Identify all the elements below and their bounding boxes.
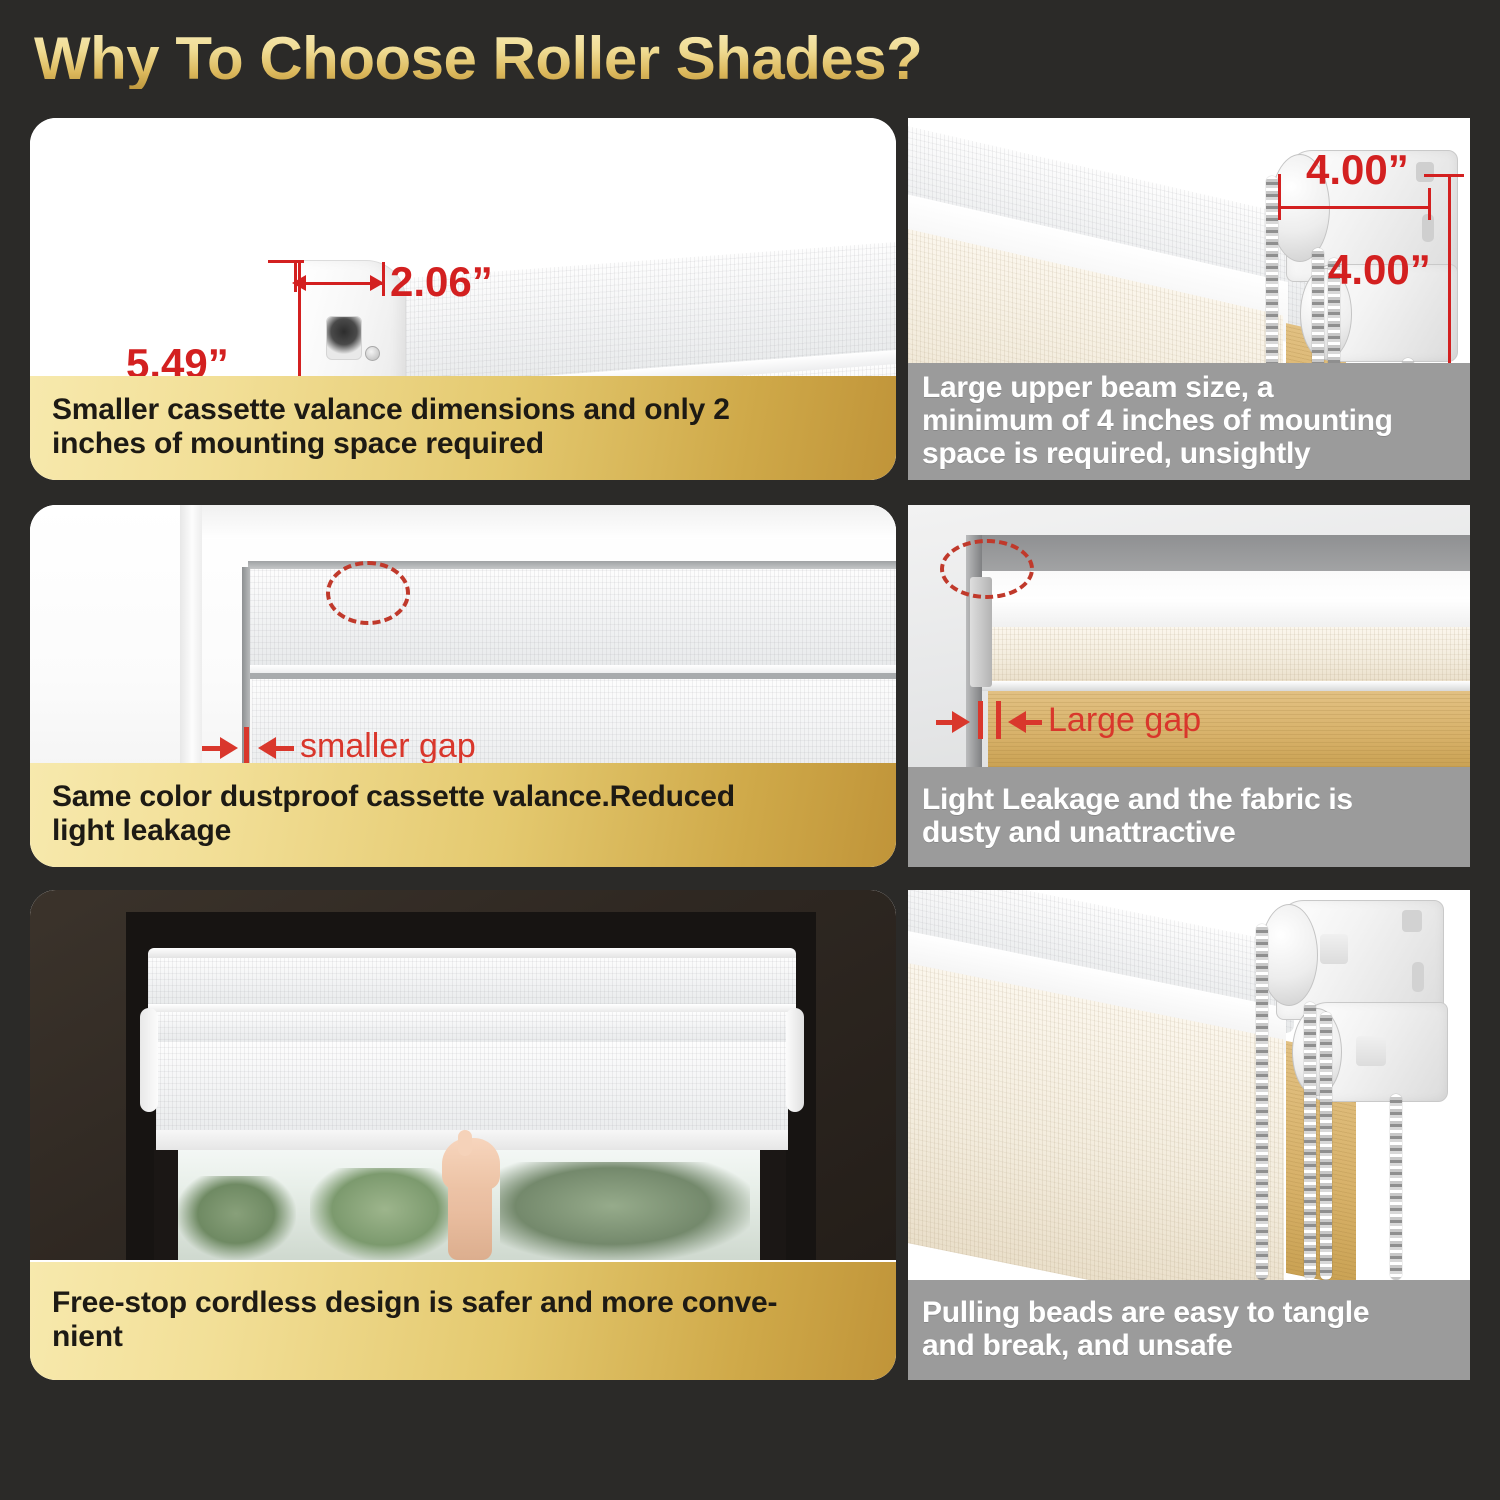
bracket-emboss-lower: [1356, 1036, 1386, 1066]
panel-large-upper-beam: 4.00” 4.00” Large upper beam size, a min…: [908, 118, 1470, 480]
caption-free-stop-cordless-design: Free-stop cordless design is safer and m…: [30, 1262, 896, 1380]
gap-label-smaller: smaller gap: [300, 727, 476, 766]
dashed-circle-annotation-icon: [940, 539, 1034, 599]
dim-tick-beam-left: [1278, 174, 1281, 220]
dim-tick-beam-right: [1428, 188, 1431, 220]
bracket-slot-2: [1412, 962, 1424, 992]
head-rail-white: [970, 571, 1470, 633]
valance-end-cap-slot: [326, 316, 362, 360]
arrow-left-icon: [258, 737, 276, 759]
caption-light-leakage-dusty-fabric: Light Leakage and the fabric is dusty an…: [908, 767, 1470, 867]
tree-foliage-right: [500, 1162, 750, 1260]
caption-text: Free-stop cordless design is safer and m…: [52, 1286, 777, 1353]
caption-pulling-beads-tangle: Pulling beads are easy to tangle and bre…: [908, 1280, 1470, 1380]
tree-foliage-left: [176, 1176, 296, 1260]
window-frame-vertical-molding: [180, 505, 202, 795]
bracket-slot-1: [1416, 162, 1434, 182]
bead-chain-4: [1390, 1094, 1402, 1280]
dim-label-beam-height: 4.00”: [1328, 246, 1431, 294]
arrow-right-icon: [220, 737, 238, 759]
dashed-circle-annotation-icon: [326, 561, 410, 625]
page-title: Why To Choose Roller Shades?: [34, 20, 1034, 98]
panel-free-stop-cordless-design: Free-stop cordless design is safer and m…: [30, 890, 896, 1380]
dim-label-beam-width: 4.00”: [1306, 146, 1409, 194]
bead-chain-2: [1304, 1002, 1316, 1280]
gap-label-large: Large gap: [1048, 701, 1201, 740]
roller-left-end: [140, 1008, 158, 1112]
hand-thumb: [458, 1130, 472, 1156]
dim-line-beam-height: [1448, 174, 1451, 374]
bead-chain-1: [1256, 924, 1268, 1280]
tree-foliage-center: [310, 1168, 460, 1260]
gap-arrow-stem-right: [276, 746, 294, 751]
dim-line-beam-width: [1278, 206, 1430, 209]
roller-right-end: [786, 1008, 804, 1112]
roller-shadow-line: [248, 673, 896, 679]
dim-arrow-width-right: [370, 275, 384, 291]
cassette-valance-body: [148, 958, 796, 1010]
dim-tick-beam-top: [1424, 174, 1464, 177]
bead-chain-3: [1320, 1012, 1332, 1280]
panel-dustproof-cassette-valance: smaller gap Same color dustproof cassett…: [30, 505, 896, 867]
arrow-right-icon: [952, 711, 970, 733]
bracket-emboss-upper: [1320, 934, 1348, 964]
window-mullion-right: [760, 1148, 786, 1260]
panel-smaller-cassette-valance: 2.06” 5.49” Smaller cassette valance dim…: [30, 118, 896, 480]
caption-text: Pulling beads are easy to tangle and bre…: [922, 1296, 1369, 1362]
caption-text: Light Leakage and the fabric is dusty an…: [922, 783, 1353, 849]
window-frame-head-molding: [202, 505, 896, 539]
roller-fabric-upper: [152, 1012, 792, 1046]
roller-end-disc-lower: [1292, 1008, 1342, 1096]
gap-arrow-stem-left: [202, 746, 222, 751]
bracket-slot-1: [1402, 910, 1422, 932]
caption-large-upper-beam: Large upper beam size, a minimum of 4 in…: [908, 363, 1470, 480]
roller-end-disc-upper: [1260, 904, 1318, 1006]
caption-dustproof-cassette-valance: Same color dustproof cassette valance.Re…: [30, 763, 896, 867]
caption-text: Same color dustproof cassette valance.Re…: [52, 780, 735, 847]
dim-label-width: 2.06”: [390, 258, 493, 306]
dim-tick-height-top: [268, 260, 304, 263]
panel-light-leakage-dusty-fabric: Large gap Light Leakage and the fabric i…: [908, 505, 1470, 867]
gap-measure-bar: [244, 727, 249, 767]
caption-text: Smaller cassette valance dimensions and …: [52, 393, 730, 460]
roller-bottom-lip: [980, 681, 1470, 691]
infographic-page: Why To Choose Roller Shades? 2.06”: [0, 0, 1500, 1500]
gap-arrow-stem-right: [1026, 720, 1042, 725]
panel-pulling-beads-tangle: Pulling beads are easy to tangle and bre…: [908, 890, 1470, 1380]
arrow-left-icon: [1008, 711, 1026, 733]
gap-measure-bar-1: [978, 701, 983, 739]
caption-smaller-cassette-valance: Smaller cassette valance dimensions and …: [30, 376, 896, 480]
window-mullion-left: [154, 1148, 178, 1260]
page-title-text: Why To Choose Roller Shades?: [34, 29, 922, 89]
fabric-band-cream: [978, 627, 1470, 685]
gap-measure-bar-2: [996, 701, 1001, 739]
caption-text: Large upper beam size, a minimum of 4 in…: [922, 371, 1393, 470]
valance-screw: [365, 346, 380, 361]
